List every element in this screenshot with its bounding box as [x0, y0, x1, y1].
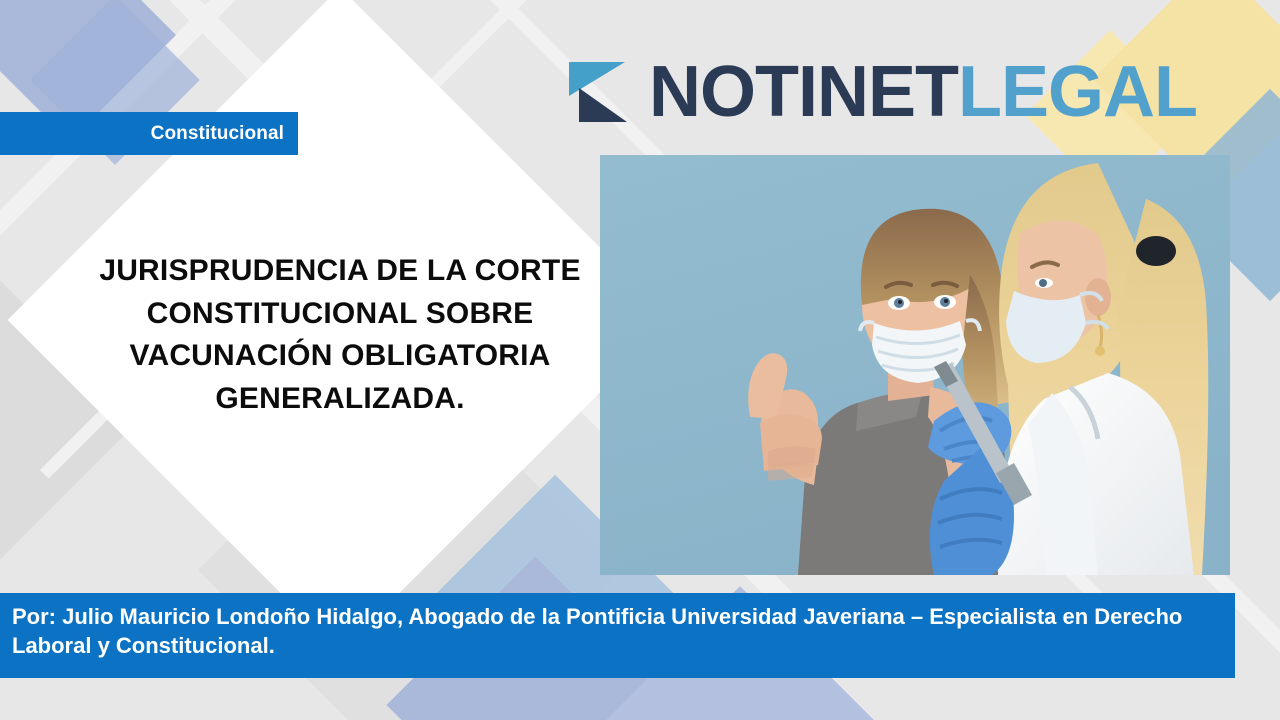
vaccination-photo-illustration	[600, 155, 1230, 575]
brand-logo-secondary-text: LEGAL	[958, 56, 1197, 128]
poster-canvas: Constitucional NOTINETLEGAL JURISPRUDENC…	[0, 0, 1280, 720]
article-photo	[600, 155, 1230, 575]
brand-logo-primary-text: NOTINET	[649, 56, 958, 128]
page-title: JURISPRUDENCIA DE LA CORTE CONSTITUCIONA…	[45, 250, 635, 420]
brand-logo: NOTINETLEGAL	[565, 52, 1197, 132]
category-badge-label: Constitucional	[151, 123, 284, 145]
author-caption: Por: Julio Mauricio Londoño Hidalgo, Abo…	[0, 593, 1235, 678]
notinet-logo-icon	[565, 56, 631, 128]
brand-logo-wordmark: NOTINETLEGAL	[649, 56, 1197, 128]
category-badge: Constitucional	[0, 112, 298, 155]
